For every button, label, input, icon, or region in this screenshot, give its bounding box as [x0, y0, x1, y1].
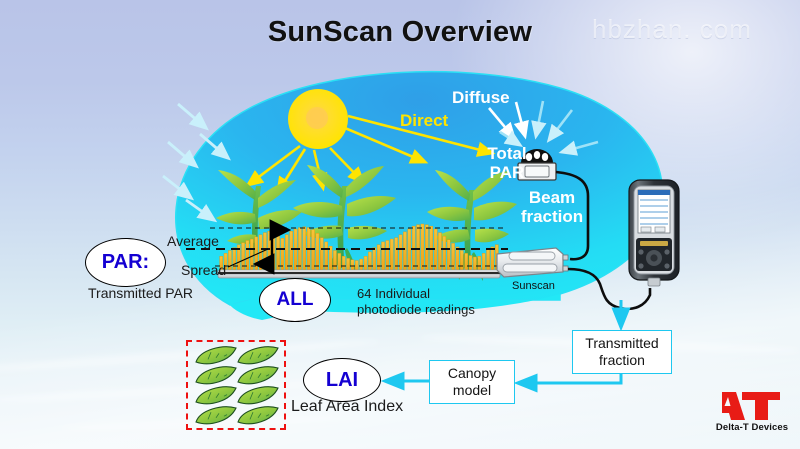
photodiode-bar [228, 251, 231, 272]
photodiode-bar [233, 248, 236, 272]
photodiode-bar [377, 245, 380, 272]
label-photodiode-readings: 64 Individual photodiode readings [357, 286, 475, 318]
sunscan-probe [497, 248, 568, 277]
box-transmitted-fraction[interactable]: Transmitted fraction [572, 330, 672, 374]
slide-canvas: SunScan Overview hbzhan. com Diffuse Dir… [0, 0, 800, 449]
photodiode-bar [491, 247, 494, 272]
label-transmitted-par: Transmitted PAR [88, 285, 193, 301]
photodiode-bar [303, 227, 306, 272]
label-diffuse: Diffuse [452, 88, 510, 108]
photodiode-bar [333, 251, 336, 272]
delta-t-logo: Delta-T Devices [714, 386, 790, 433]
label-beam-fraction: Beam fraction [514, 188, 590, 226]
box-canopy-model[interactable]: Canopy model [429, 360, 515, 404]
photodiode-bar [373, 248, 376, 272]
sun-icon [288, 89, 348, 149]
label-total-par: Total PAR [478, 144, 536, 182]
photodiode-bar [447, 240, 450, 272]
photodiode-bar [482, 253, 485, 272]
logo-caption: Delta-T Devices [714, 422, 790, 433]
sunscan-diagram [0, 0, 800, 449]
photodiode-bar [381, 242, 384, 272]
photodiode-bar [320, 238, 323, 272]
canopy-sample-area [186, 340, 286, 430]
label-direct: Direct [400, 111, 448, 131]
handheld-pda [629, 180, 679, 286]
photodiode-bar [329, 246, 332, 272]
photodiode-bar [456, 247, 459, 272]
badge-par[interactable]: PAR: [85, 238, 166, 287]
label-spread: Spread [181, 262, 226, 278]
photodiode-bar [460, 251, 463, 272]
photodiode-bar [443, 236, 446, 272]
photodiode-bar [246, 240, 249, 272]
photodiode-bar [469, 256, 472, 272]
photodiode-bar [325, 242, 328, 272]
photodiode-bar [276, 236, 279, 272]
label-sunscan-device: Sunscan [512, 280, 555, 292]
photodiode-bar [421, 224, 424, 272]
photodiode-bar [451, 243, 454, 272]
photodiode-bar [395, 238, 398, 272]
photodiode-bar [386, 240, 389, 272]
label-average: Average [167, 233, 219, 249]
photodiode-bar [465, 253, 468, 272]
photodiode-bar [281, 238, 284, 272]
badge-lai[interactable]: LAI [303, 358, 381, 402]
badge-all[interactable]: ALL [259, 278, 331, 322]
photodiode-bar [390, 239, 393, 272]
photodiode-bar [486, 250, 489, 272]
photodiode-bar [338, 253, 341, 272]
photodiode-bar [368, 252, 371, 272]
photodiode-bar [241, 243, 244, 272]
watermark: hbzhan. com [592, 14, 752, 45]
